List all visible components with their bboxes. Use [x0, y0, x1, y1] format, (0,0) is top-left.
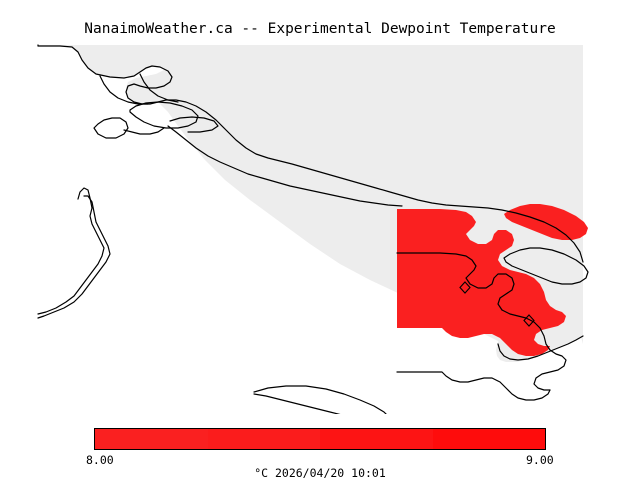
colorbar-section: 8.00 9.00 °C 2026/04/20 10:01: [0, 420, 640, 480]
weather-map-page: NanaimoWeather.ca -- Experimental Dewpoi…: [0, 0, 640, 480]
colorbar-segment-3: [320, 429, 433, 449]
coastline-vancouver-island-east: [38, 188, 104, 314]
colorbar-segment-1: [95, 429, 208, 449]
coastline-notch: [124, 128, 164, 134]
colorbar-segment-2: [208, 429, 321, 449]
coastline-vancouver-island-west: [38, 196, 110, 318]
page-title: NanaimoWeather.ca -- Experimental Dewpoi…: [0, 21, 640, 37]
colorbar-min-label: 8.00: [86, 453, 114, 467]
colorbar-gradient[interactable]: [94, 428, 546, 450]
map-svg: [0, 44, 640, 414]
colorbar-segment-4: [433, 429, 546, 449]
colorbar-max-label: 9.00: [526, 453, 554, 467]
coastline-long-island-south: [254, 394, 380, 414]
map-canvas[interactable]: [0, 44, 640, 414]
colorbar-caption: °C 2026/04/20 10:01: [0, 466, 640, 480]
coastline-bay-1: [94, 118, 128, 138]
coastline-red-region-south: [397, 372, 550, 400]
